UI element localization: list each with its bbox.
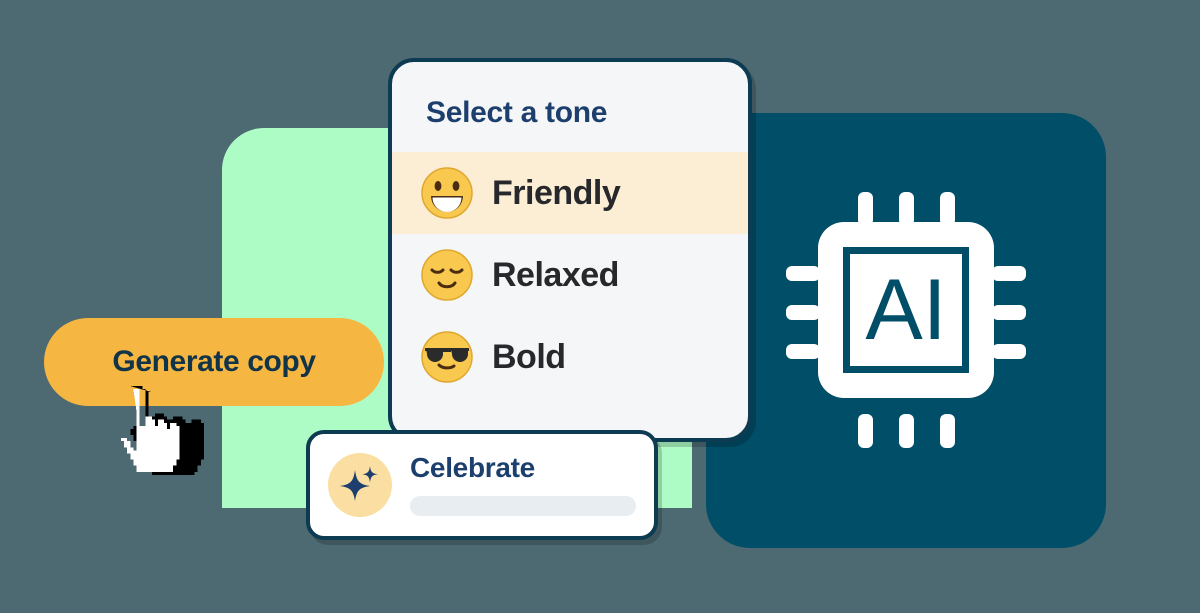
ai-chip-icon: AI [786, 192, 1026, 448]
celebrate-card[interactable]: Celebrate [306, 430, 658, 540]
tone-option-label: Relaxed [492, 256, 619, 295]
tone-option-bold[interactable]: Bold [392, 316, 748, 398]
svg-text:AI: AI [865, 262, 946, 358]
tone-selector-card: Select a tone Friendly [388, 58, 752, 442]
relieved-face-emoji [418, 249, 476, 301]
pointing-hand-cursor [108, 386, 204, 496]
tone-option-label: Bold [492, 338, 566, 377]
tone-option-friendly[interactable]: Friendly [392, 152, 748, 234]
grinning-face-emoji [418, 167, 476, 219]
illustration-canvas: AI Generate copy Select a tone [0, 0, 1200, 613]
celebrate-title: Celebrate [410, 454, 636, 482]
tone-option-relaxed[interactable]: Relaxed [392, 234, 748, 316]
generate-copy-button[interactable]: Generate copy [44, 318, 384, 406]
tone-option-label: Friendly [492, 174, 620, 213]
tone-option-list: Friendly Relaxed [392, 152, 748, 398]
celebrate-content: Celebrate [410, 454, 636, 516]
celebrate-placeholder-bar [410, 496, 636, 516]
tone-card-title: Select a tone [392, 62, 748, 130]
sunglasses-face-emoji [418, 331, 476, 383]
sparkle-icon [328, 453, 392, 517]
